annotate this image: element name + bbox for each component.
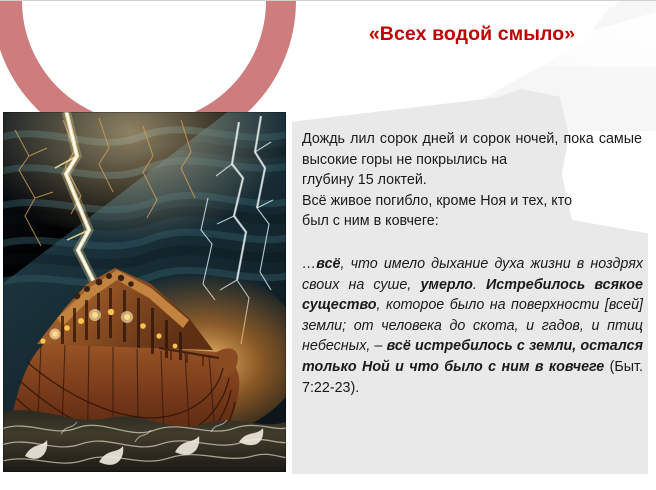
slide-canvas: «Всех водой смыло» [0, 0, 656, 490]
quote-emphasis-2: умерло [420, 277, 472, 293]
quote-emphasis-1: всё [316, 256, 340, 272]
intro-line-2: глубину 15 локтей. [302, 170, 642, 191]
ark-illustration-svg [3, 112, 286, 472]
quote-ellipsis: … [302, 256, 316, 272]
intro-line-3: Всё живое погибло, кроме Ноя и тех, кто [302, 191, 642, 212]
wash-circle [586, 1, 656, 131]
arc-path [0, 1, 296, 121]
decorative-arc-shape [0, 1, 300, 121]
intro-line-4: был с ним в ковчеге: [302, 211, 642, 232]
intro-line-1: Дождь лил сорок дней и сорок ночей, пока… [302, 129, 642, 170]
scripture-quote: …всё, что имело дыхание духа жизни в ноз… [302, 254, 643, 398]
ark-illustration [3, 112, 286, 472]
quote-text-4: . [473, 277, 486, 293]
page-title: «Всех водой смыло» [296, 23, 648, 46]
intro-paragraphs: Дождь лил сорок дней и сорок ночей, пока… [302, 129, 642, 232]
arc-svg [0, 1, 300, 121]
